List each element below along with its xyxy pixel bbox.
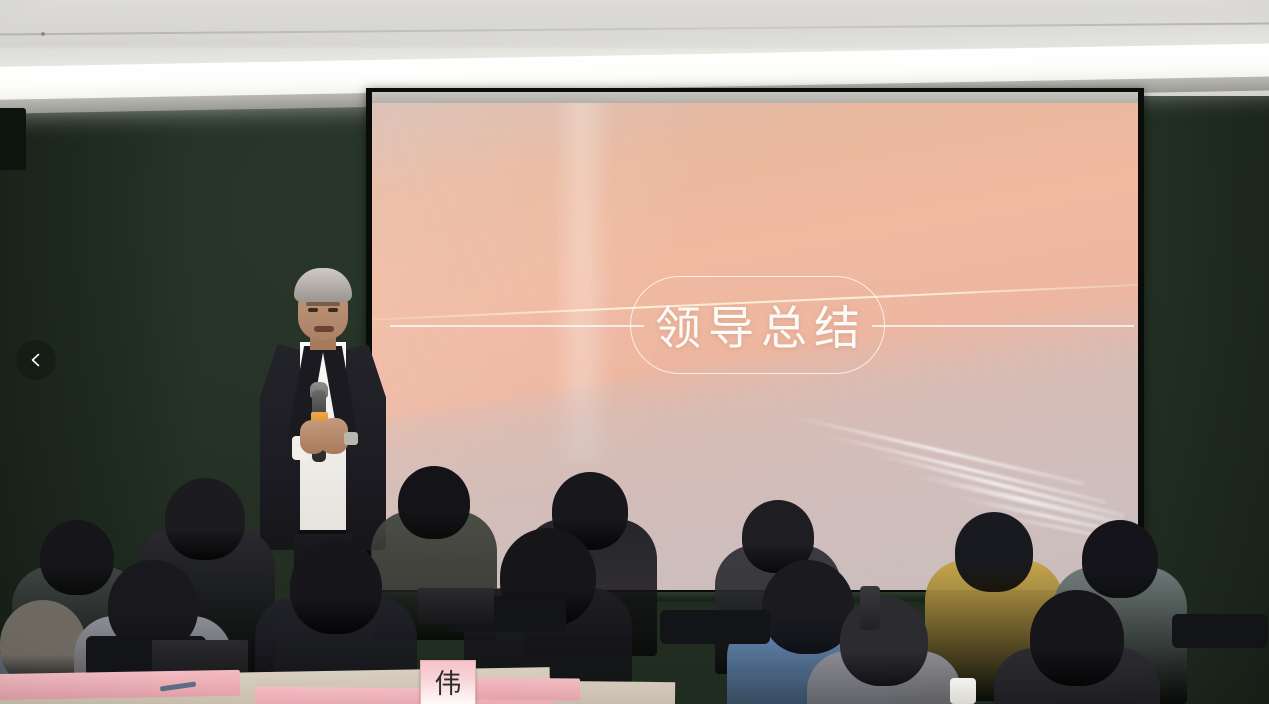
previous-photo-button[interactable] <box>16 340 56 380</box>
presenter-eye <box>328 308 338 312</box>
audience-head <box>290 540 382 634</box>
presenter-eye <box>308 308 318 312</box>
presenter-hair <box>294 268 352 302</box>
audience-head <box>840 596 928 686</box>
slide-title-pill: 领导总结 <box>630 276 885 374</box>
table-runner <box>0 670 240 700</box>
audience-head <box>165 478 245 560</box>
name-placard-text: 伟 <box>435 671 462 698</box>
presenter <box>252 268 392 588</box>
screen-top-bar <box>372 92 1138 103</box>
audience-head <box>1030 590 1124 686</box>
ceiling-fixture-dot <box>41 32 45 36</box>
slide-title: 领导总结 <box>648 292 867 358</box>
name-placard: 伟 <box>420 660 476 704</box>
chair-back <box>660 610 770 644</box>
audience-head <box>398 466 470 539</box>
water-bottle <box>860 586 880 630</box>
audience-head <box>955 512 1033 592</box>
chevron-left-icon <box>28 352 44 368</box>
wall-equipment-box <box>0 108 26 170</box>
presenter-brow <box>306 302 340 306</box>
chair-back <box>1172 614 1268 648</box>
slide-rule-left <box>390 325 644 327</box>
presenter-watch <box>344 432 358 445</box>
photo-viewer: 领导总结 伟 <box>0 0 1269 704</box>
audience-head <box>40 520 114 595</box>
slide-rule-right <box>872 325 1134 327</box>
presenter-mouth <box>314 326 334 332</box>
ceiling-seam <box>0 22 1269 35</box>
audience-head <box>1082 520 1158 598</box>
water-bottle <box>950 678 976 704</box>
table-runner <box>470 678 580 701</box>
laptop <box>418 588 494 624</box>
